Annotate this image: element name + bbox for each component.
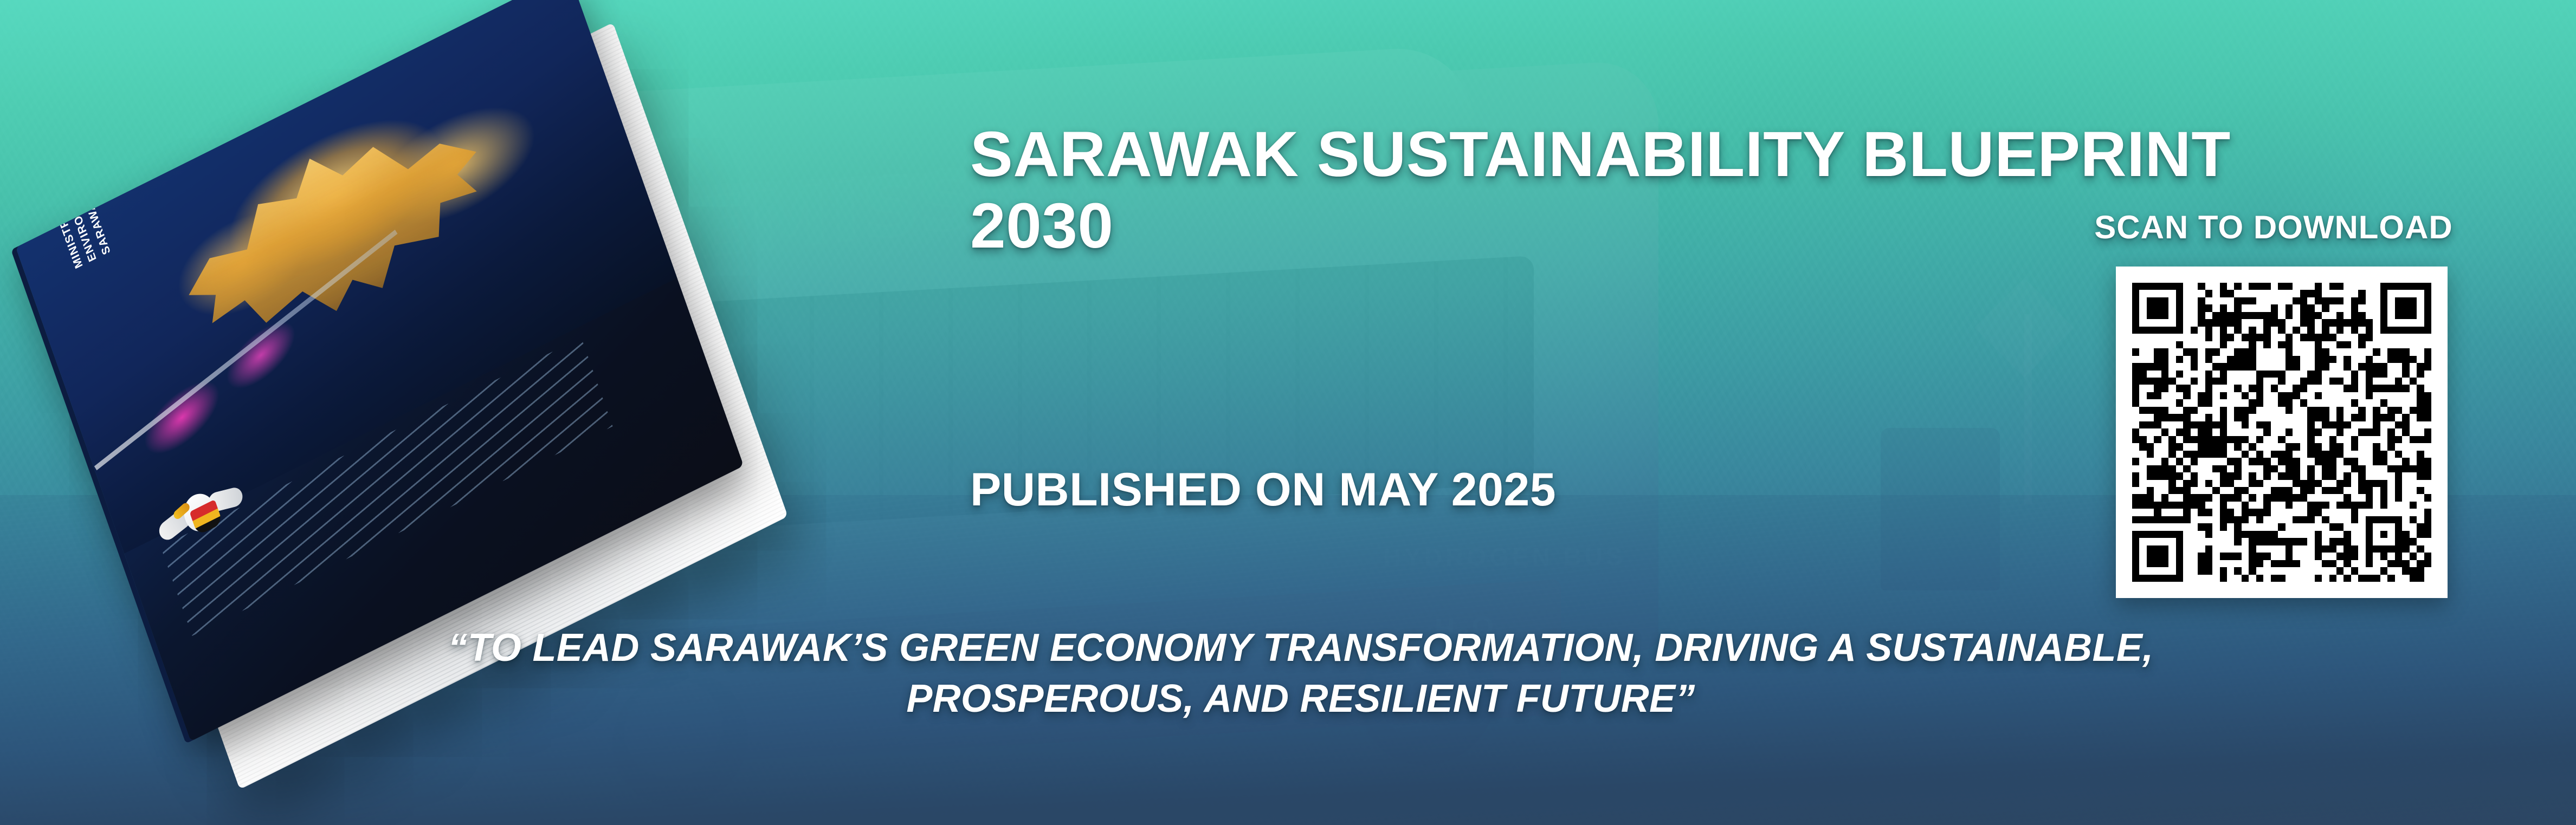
qr-code-icon[interactable] (2132, 283, 2431, 582)
qr-code-card[interactable] (2116, 267, 2448, 598)
vision-statement: “TO LEAD SARAWAK’S GREEN ECONOMY TRANSFO… (412, 623, 2190, 724)
blueprint-book-mockup: MINISTRY OF ENERGY AND ENVIRONMENTAL SUS… (81, 65, 829, 688)
publication-date: PUBLISHED ON MAY 2025 (970, 463, 1556, 517)
scan-to-download-label: SCAN TO DOWNLOAD (2081, 209, 2482, 246)
sustainability-blueprint-banner: ZERO EMISSION H₂O HYDROGEN BUS MINISTRY … (0, 0, 2576, 825)
qr-download-panel[interactable]: SCAN TO DOWNLOAD (2081, 209, 2482, 598)
